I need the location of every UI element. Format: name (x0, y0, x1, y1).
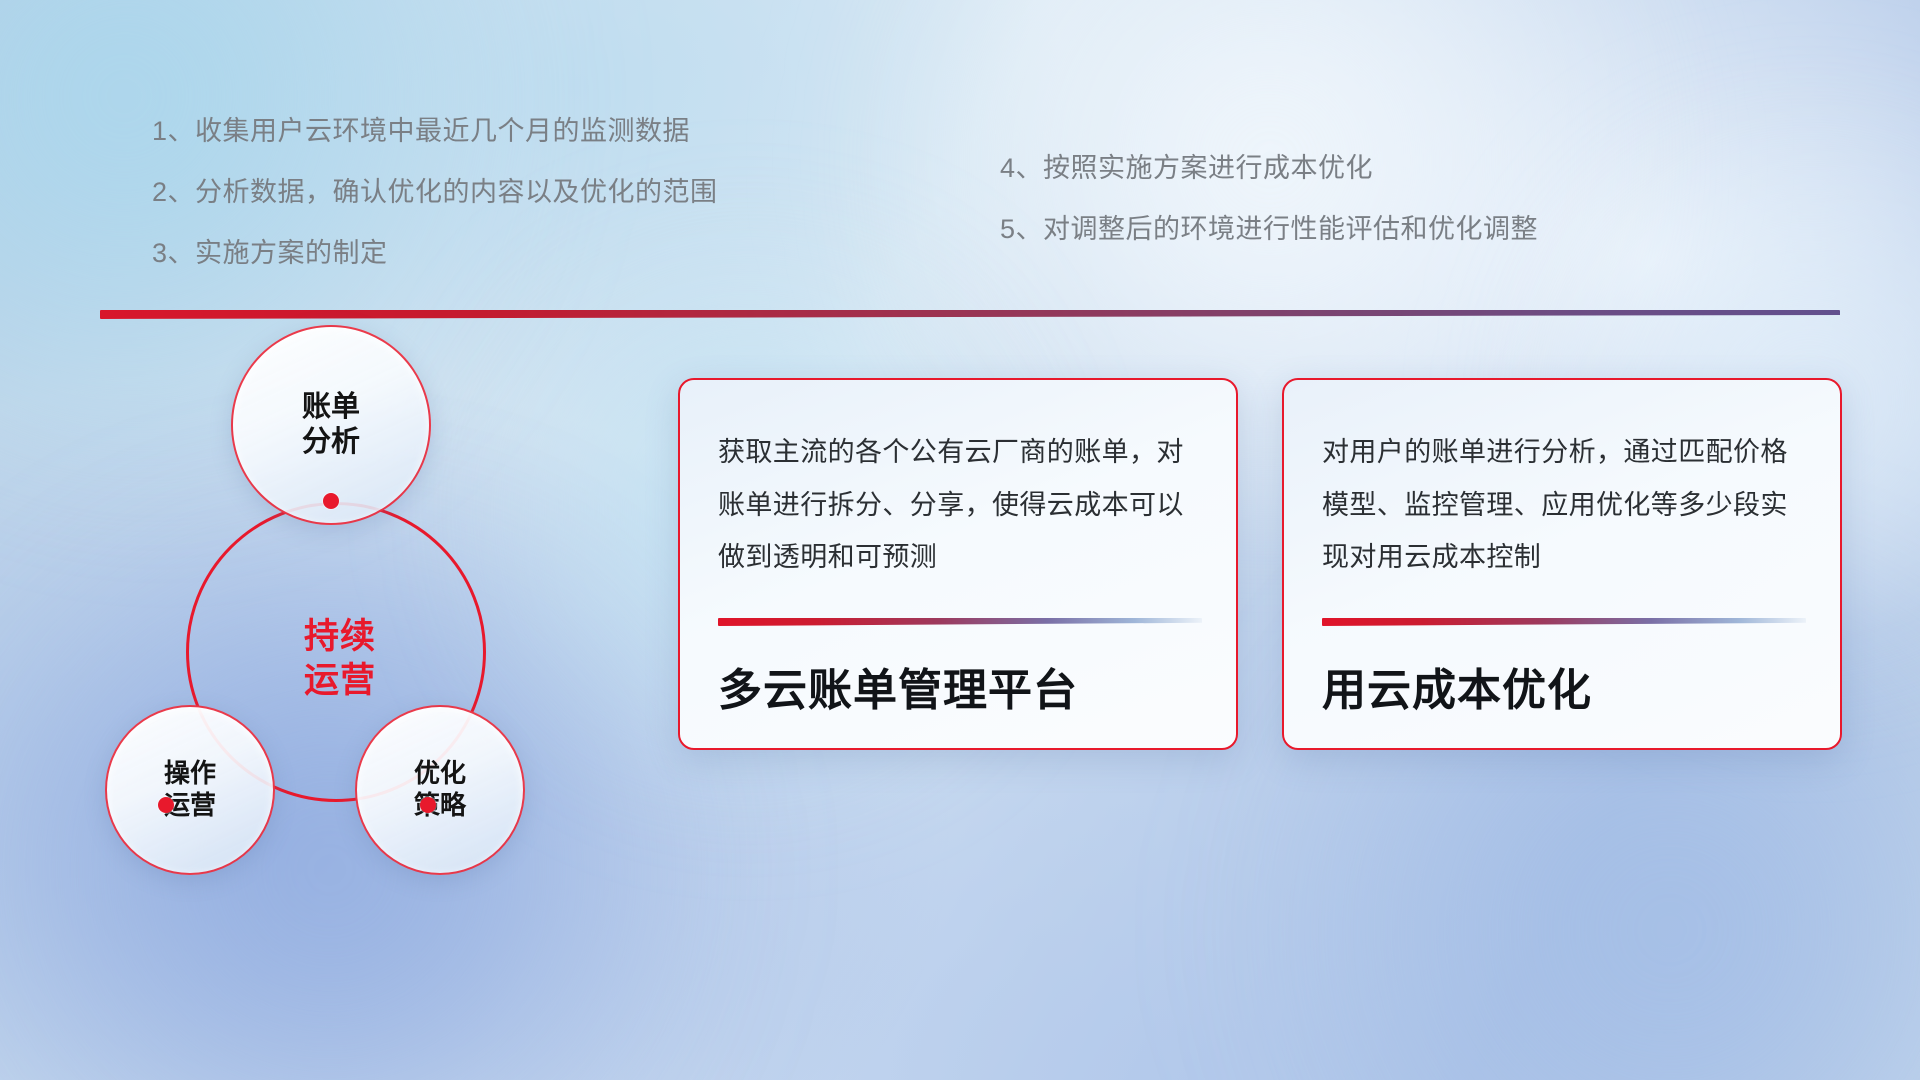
diagram-connector-dot-left (158, 797, 174, 813)
diagram-connector-dot-right (420, 797, 436, 813)
center-label-line-1: 持续 (250, 615, 430, 659)
diagram-node-optimization-strategy[interactable]: 优化 策略 (355, 705, 525, 875)
bullet-list-left: 1、收集用户云环境中最近几个月的监测数据 2、分析数据，确认优化的内容以及优化的… (152, 118, 718, 267)
bullet-list-right: 4、按照实施方案进行成本优化 5、对调整后的环境进行性能评估和优化调整 (1000, 155, 1538, 243)
bullet-item-4: 4、按照实施方案进行成本优化 (1000, 155, 1538, 182)
diagram-center-label: 持续 运营 (250, 615, 430, 703)
bullet-item-2: 2、分析数据，确认优化的内容以及优化的范围 (152, 179, 718, 206)
card-2-title: 用云成本优化 (1322, 654, 1592, 718)
node-operations-line-1: 操作 (164, 758, 216, 790)
diagram-node-operations[interactable]: 操作 运营 (105, 705, 275, 875)
card-1-title: 多云账单管理平台 (718, 654, 1078, 718)
node-bill-analysis-line-1: 账单 (302, 390, 360, 425)
center-label-line-2: 运营 (250, 659, 430, 703)
card-1-accent-rule (718, 618, 1202, 626)
bullet-item-1: 1、收集用户云环境中最近几个月的监测数据 (152, 118, 718, 145)
feature-card-cloud-cost-optimization[interactable]: 对用户的账单进行分析，通过匹配价格模型、监控管理、应用优化等多少段实现对用云成本… (1282, 378, 1842, 750)
bullet-item-3: 3、实施方案的制定 (152, 240, 718, 267)
card-1-body: 获取主流的各个公有云厂商的账单，对账单进行拆分、分享，使得云成本可以做到透明和可… (718, 426, 1198, 584)
card-2-accent-rule (1322, 618, 1806, 626)
continuous-operation-diagram: 持续 运营 账单 分析 操作 运营 优化 策略 (100, 340, 580, 960)
card-2-body: 对用户的账单进行分析，通过匹配价格模型、监控管理、应用优化等多少段实现对用云成本… (1322, 426, 1802, 584)
feature-card-multicloud-billing[interactable]: 获取主流的各个公有云厂商的账单，对账单进行拆分、分享，使得云成本可以做到透明和可… (678, 378, 1238, 750)
slide-canvas: 1、收集用户云环境中最近几个月的监测数据 2、分析数据，确认优化的内容以及优化的… (0, 0, 1920, 1080)
node-optimization-line-1: 优化 (414, 758, 466, 790)
section-divider (100, 310, 1840, 319)
node-bill-analysis-line-2: 分析 (302, 425, 360, 460)
diagram-connector-dot-top (323, 493, 339, 509)
bullet-item-5: 5、对调整后的环境进行性能评估和优化调整 (1000, 216, 1538, 243)
